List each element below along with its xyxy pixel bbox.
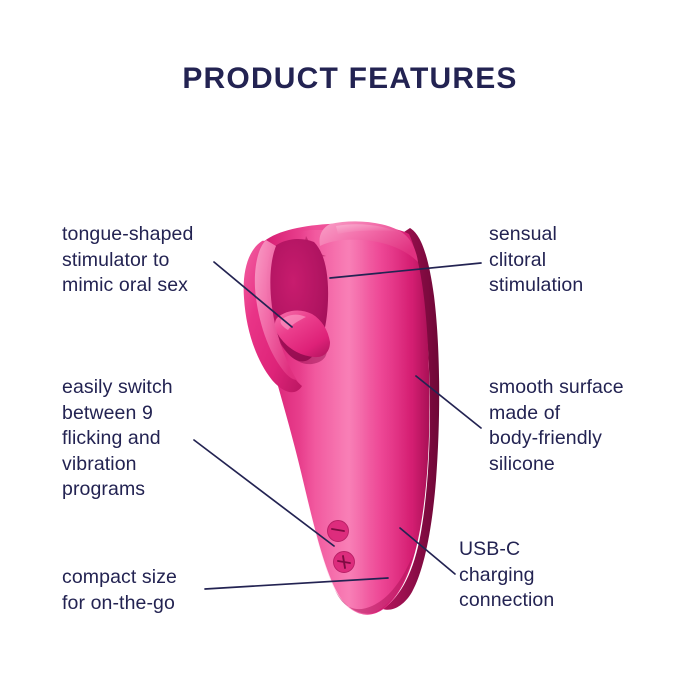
callout-flicking-vibration-programs: easily switch between 9 flicking and vib… [62, 375, 262, 503]
callout-tongue-shaped-stimulator: tongue-shaped stimulator to mimic oral s… [62, 222, 277, 299]
decrease-intensity-button[interactable] [328, 521, 349, 542]
callout-smooth-silicone-surface: smooth surface made of body-friendly sil… [489, 375, 694, 477]
callout-compact-size: compact size for on-the-go [62, 565, 272, 616]
product-features-infographic: PRODUCT FEATURES [0, 0, 700, 700]
callout-usbc-charging: USB-C charging connection [459, 537, 669, 614]
callout-sensual-clitoral-stimulation: sensual clitoral stimulation [489, 222, 689, 299]
